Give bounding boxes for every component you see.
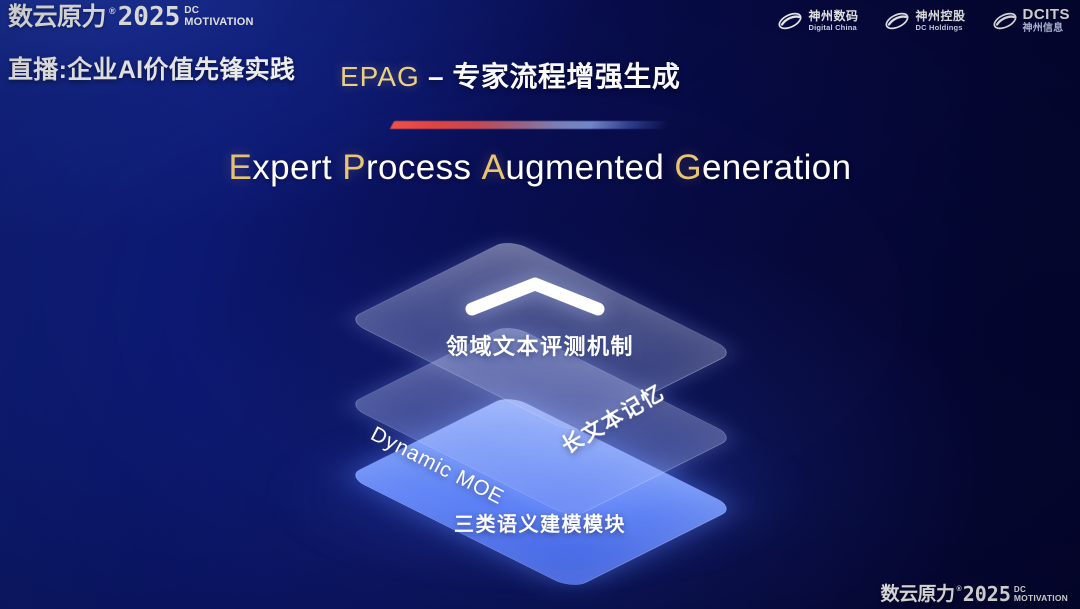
accent-divider-bar [390, 121, 670, 129]
registered-mark-icon: ® [109, 5, 116, 17]
logo-digital-china-cn: 神州数码 [808, 10, 858, 22]
presentation-slide: 数云原力 ® 2025 DC MOTIVATION 直播:企业AI价值先锋实践 … [0, 0, 1080, 609]
logo-dcits-cn: DCITS [1023, 7, 1071, 22]
brand-name-cn: 数云原力 [8, 4, 106, 30]
footer-registered-mark-icon: ® [957, 585, 962, 594]
diagram-layer-top [346, 239, 735, 434]
epag-chinese-subtitle: – 专家流程增强生成 [420, 61, 681, 92]
brand-logo-top-left: 数云原力 ® 2025 DC MOTIVATION [8, 4, 254, 30]
expansion-rest-2: rocess [366, 148, 472, 187]
diagram-layer-bottom [346, 395, 735, 590]
epag-acronym: EPAG [340, 61, 420, 92]
dc-holdings-swirl-icon [884, 9, 910, 33]
diagram-label-bottom: 三类语义建模模块 [0, 508, 1080, 537]
logo-dcits: DCITS 神州信息 [992, 7, 1071, 34]
footer-brand-dc-line2: MOTIVATION [1014, 594, 1068, 603]
footer-brand-name-cn: 数云原力 [881, 584, 955, 605]
brand-logo-bottom-right: 数云原力 ® 2025 DC MOTIVATION [881, 584, 1068, 605]
logo-dcits-en: 神州信息 [1023, 24, 1071, 34]
brand-dc-motivation: DC MOTIVATION [184, 6, 253, 28]
expansion-rest-4: eneration [702, 148, 852, 187]
epag-headline: EPAG – 专家流程增强生成 [340, 55, 680, 95]
footer-brand-year: 2025 [963, 584, 1011, 605]
partner-logos: 神州数码 Digital China 神州控股 DC Holdings DCIT… [777, 7, 1070, 34]
digital-china-swirl-icon [777, 9, 803, 33]
expansion-cap-2: P [342, 148, 366, 187]
logo-digital-china: 神州数码 Digital China [777, 9, 858, 33]
diagram-label-top: 领域文本评测机制 [0, 329, 1080, 361]
logo-dcits-text: DCITS 神州信息 [1023, 7, 1071, 34]
expansion-rest-3: ugmented [505, 148, 664, 187]
logo-dc-holdings-text: 神州控股 DC Holdings [915, 10, 965, 32]
epag-expansion: Expert Process Augmented Generation [0, 148, 1080, 188]
logo-digital-china-en: Digital China [808, 24, 858, 32]
brand-dc-line2: MOTIVATION [184, 16, 253, 28]
dcits-swirl-icon [992, 9, 1018, 33]
diagram-label-long-text-memory: 长文本记忆 [556, 377, 671, 460]
diagram-label-dynamic-moe: Dynamic MOE [367, 422, 508, 510]
live-session-title: 直播:企业AI价值先锋实践 [8, 50, 295, 86]
stack-glow [268, 400, 812, 590]
logo-dc-holdings-cn: 神州控股 [915, 10, 965, 22]
logo-digital-china-text: 神州数码 Digital China [808, 10, 858, 32]
brand-year: 2025 [118, 4, 181, 30]
expansion-cap-4: G [674, 148, 702, 187]
expansion-cap-1: E [229, 148, 253, 187]
footer-brand-dc-motivation: DC MOTIVATION [1014, 586, 1068, 603]
expansion-rest-1: xpert [252, 148, 332, 187]
expansion-cap-3: A [482, 148, 506, 187]
brand-dc-line1: DC [184, 6, 253, 16]
diagram-layer-middle [346, 324, 735, 519]
chevron-up-icon [463, 275, 607, 317]
logo-dc-holdings: 神州控股 DC Holdings [884, 9, 965, 33]
logo-dc-holdings-en: DC Holdings [915, 24, 965, 32]
